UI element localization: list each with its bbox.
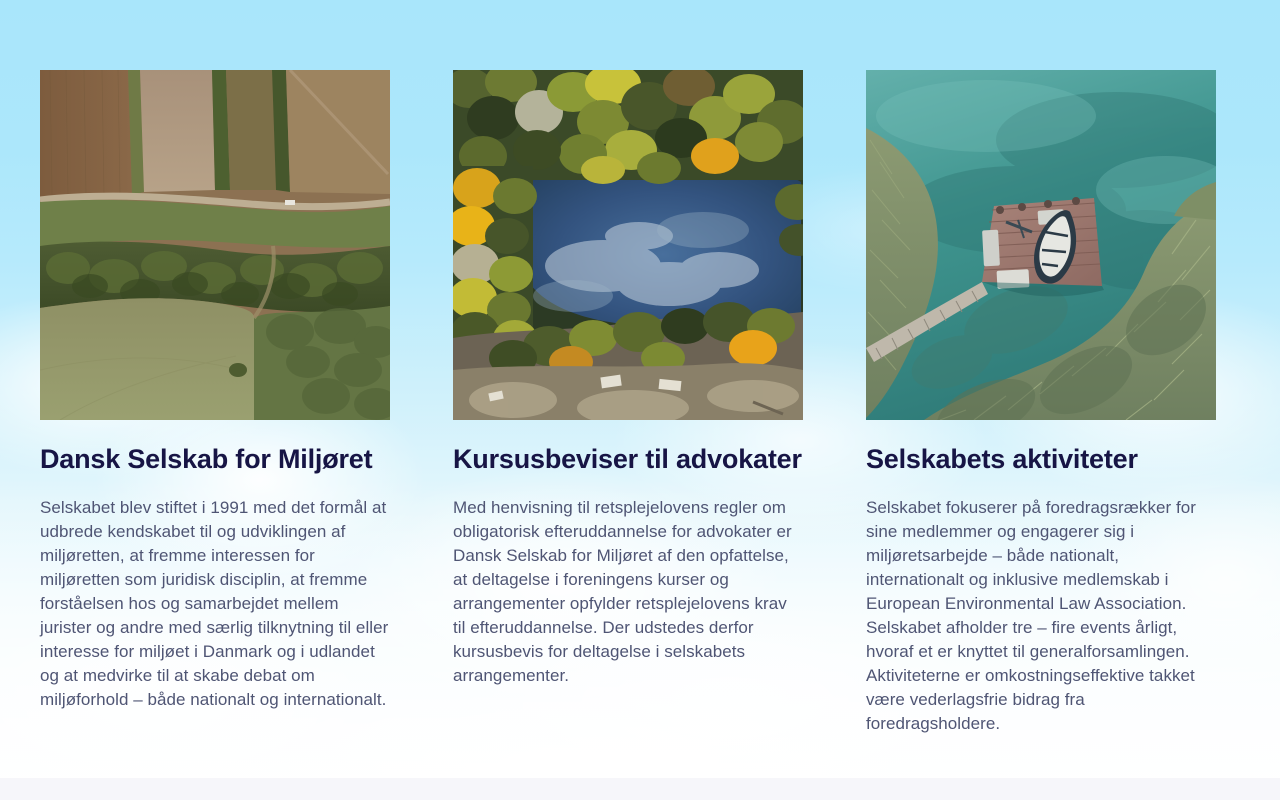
card-dansk-selskab-for-miljoeret: Dansk Selskab for Miljøret Selskabet ble… (40, 70, 390, 736)
card-body-text: Med henvisning til retsplejelovens regle… (453, 496, 803, 688)
aerial-pier-boat-lake-photo[interactable] (866, 70, 1216, 420)
page-root: Dansk Selskab for Miljøret Selskabet ble… (0, 0, 1280, 800)
card-body-text: Selskabet blev stiftet i 1991 med det fo… (40, 496, 390, 712)
card-kursusbeviser-til-advokater: Kursusbeviser til advokater Med henvisni… (453, 70, 803, 736)
aerial-farmland-fields-photo[interactable] (40, 70, 390, 420)
card-body-text: Selskabet fokuserer på foredragsrækker f… (866, 496, 1216, 736)
aerial-forest-lake-photo[interactable] (453, 70, 803, 420)
footer-strip (0, 778, 1280, 800)
cards-row: Dansk Selskab for Miljøret Selskabet ble… (40, 70, 1217, 736)
card-title: Dansk Selskab for Miljøret (40, 442, 390, 476)
card-title: Kursusbeviser til advokater (453, 442, 803, 476)
card-selskabets-aktiviteter: Selskabets aktiviteter Selskabet fokuser… (866, 70, 1216, 736)
card-title: Selskabets aktiviteter (866, 442, 1216, 476)
